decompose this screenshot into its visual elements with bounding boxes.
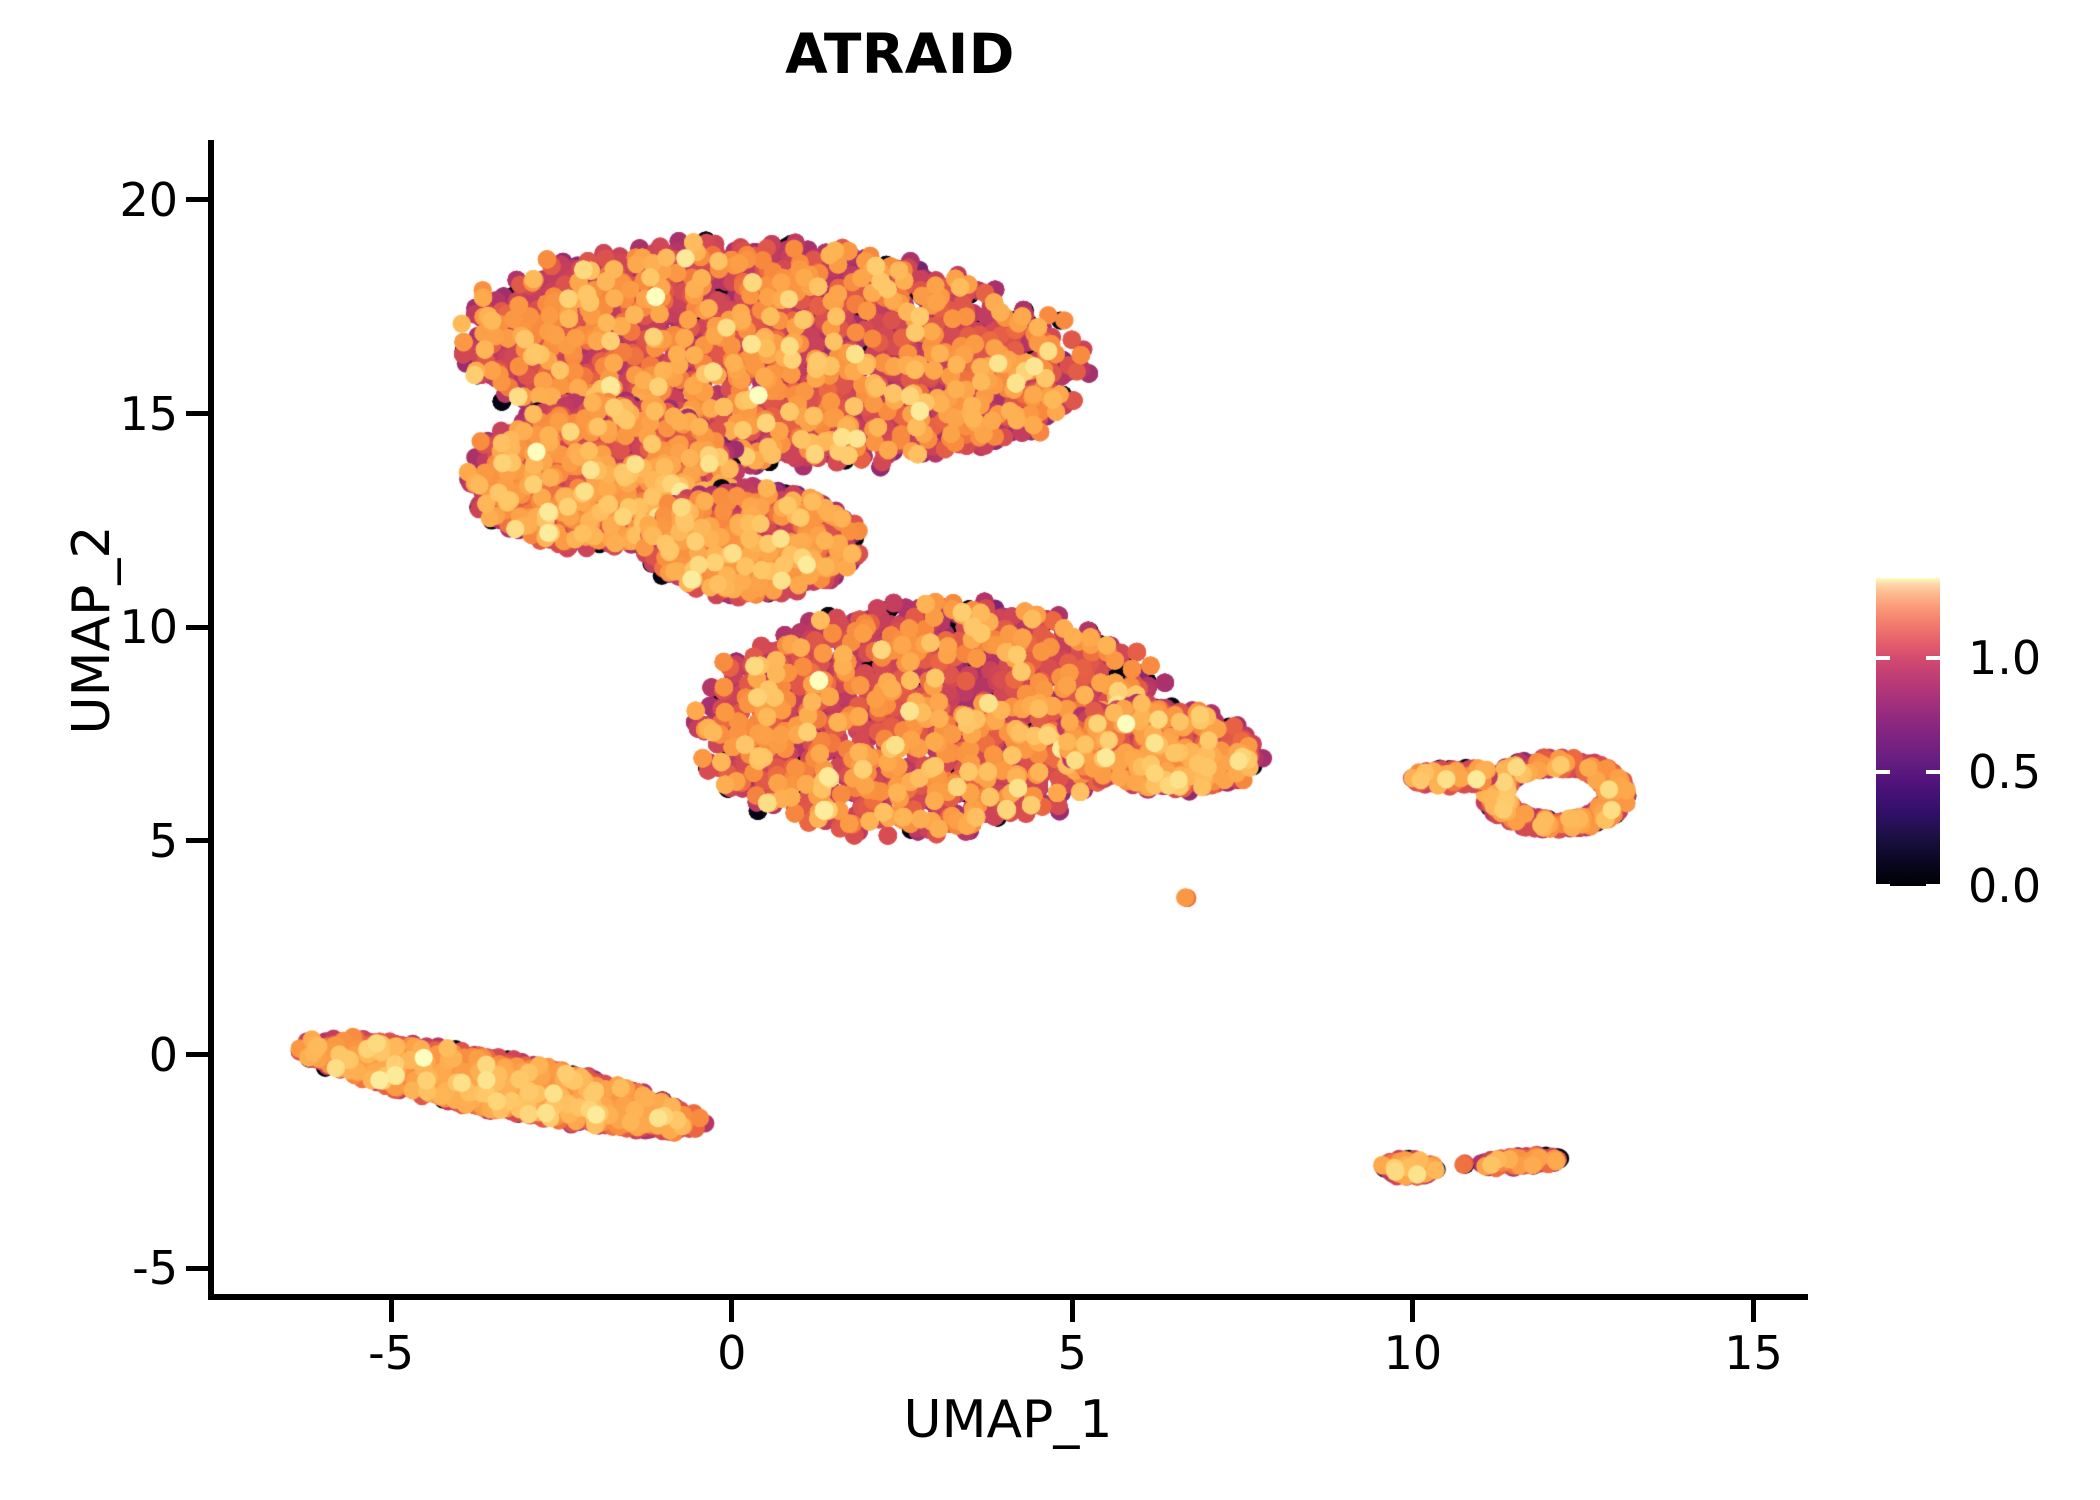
- x-tick-label: 5: [1058, 1326, 1087, 1380]
- y-tick-label: -5: [132, 1241, 178, 1295]
- y-tick-mark: [186, 838, 208, 843]
- colorbar-tick-label: 1.0: [1968, 631, 2041, 685]
- page-title: ATRAID: [0, 22, 1800, 86]
- y-tick-label: 0: [149, 1028, 178, 1082]
- x-axis-spine: [208, 1294, 1808, 1300]
- scatter-canvas: [214, 140, 1808, 1294]
- x-tick-mark: [1410, 1300, 1415, 1322]
- x-tick-mark: [729, 1300, 734, 1322]
- x-tick-mark: [1070, 1300, 1075, 1322]
- colorbar-tick-mark: [1876, 656, 1890, 660]
- y-axis-label: UMAP_2: [62, 230, 122, 1030]
- y-tick-label: 15: [119, 387, 178, 441]
- x-tick-label: -5: [368, 1326, 414, 1380]
- colorbar: 0.00.51.0: [1876, 578, 2076, 890]
- y-tick-label: 10: [119, 600, 178, 654]
- colorbar-tick-mark: [1926, 656, 1940, 660]
- y-tick-mark: [186, 625, 208, 630]
- x-tick-mark: [389, 1300, 394, 1322]
- colorbar-tick-mark: [1926, 884, 1940, 888]
- y-tick-mark: [186, 1052, 208, 1057]
- colorbar-gradient: [1876, 578, 1940, 886]
- colorbar-tick-label: 0.5: [1968, 745, 2041, 799]
- colorbar-tick-mark: [1876, 884, 1890, 888]
- y-tick-label: 20: [119, 173, 178, 227]
- scatter-plot-area: [214, 140, 1808, 1294]
- colorbar-tick-mark: [1926, 770, 1940, 774]
- colorbar-tick-label: 0.0: [1968, 859, 2041, 913]
- x-axis-label: UMAP_1: [208, 1390, 1808, 1450]
- y-tick-mark: [186, 411, 208, 416]
- figure-root: ATRAID -505101520 -5051015 UMAP_1 UMAP_2…: [0, 0, 2100, 1500]
- plot-axes: -505101520 -5051015: [208, 140, 1808, 1300]
- x-tick-label: 0: [717, 1326, 746, 1380]
- colorbar-tick-mark: [1876, 770, 1890, 774]
- x-tick-label: 10: [1384, 1326, 1443, 1380]
- x-tick-mark: [1751, 1300, 1756, 1322]
- y-tick-mark: [186, 197, 208, 202]
- y-tick-label: 5: [149, 814, 178, 868]
- y-tick-mark: [186, 1266, 208, 1271]
- x-tick-label: 15: [1724, 1326, 1783, 1380]
